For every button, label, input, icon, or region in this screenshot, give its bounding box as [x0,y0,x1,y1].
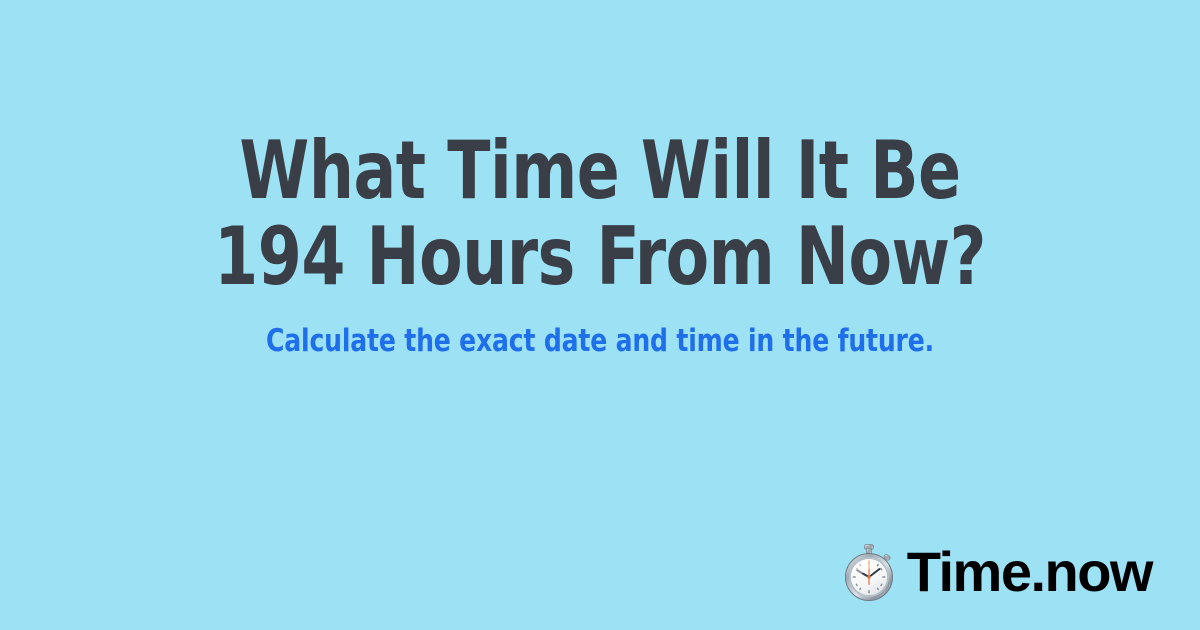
brand-logo[interactable]: Time.now [841,542,1152,602]
page-subtitle: Calculate the exact date and time in the… [60,322,1140,360]
stopwatch-icon [841,542,897,602]
brand-name-label: Time.now [907,542,1152,602]
og-card: What Time Will It Be 194 Hours From Now?… [0,0,1200,630]
hero-section: What Time Will It Be 194 Hours From Now?… [0,128,1200,360]
page-title: What Time Will It Be 194 Hours From Now? [72,128,1128,300]
